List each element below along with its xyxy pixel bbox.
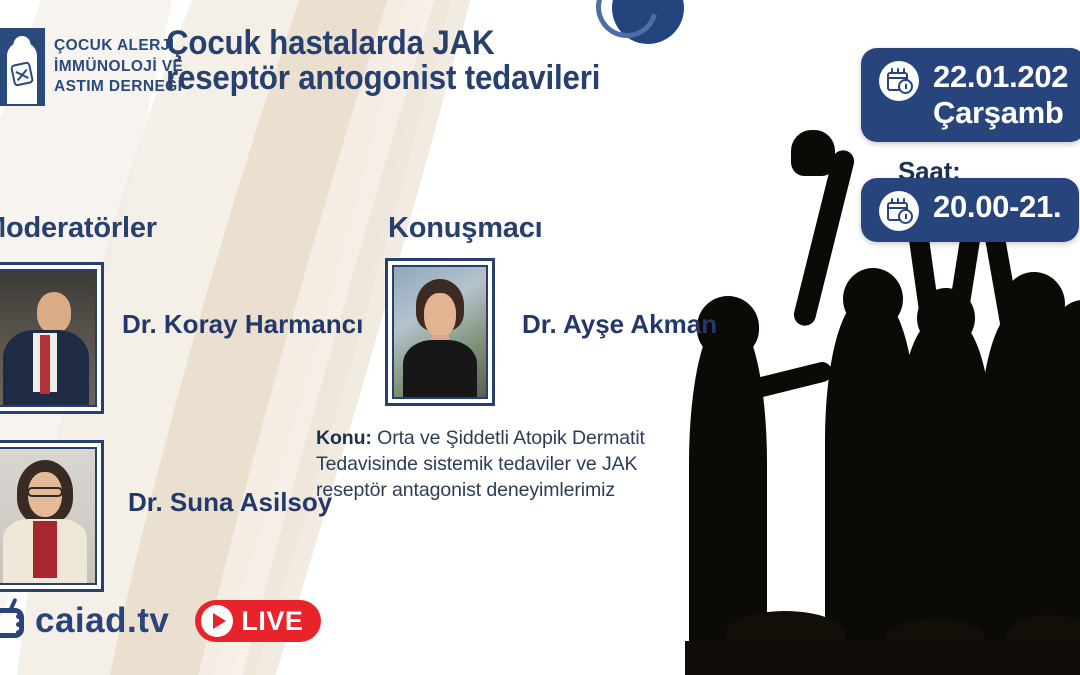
moderators-heading: Moderatörler	[0, 212, 157, 245]
avatar	[0, 271, 95, 405]
site-logo[interactable]: caiad.tv	[0, 601, 169, 641]
topic-label: Konu:	[316, 427, 372, 449]
date-value: 22.01.202	[933, 59, 1068, 95]
logo-line-2: İMMÜNOLOJİ VE	[54, 57, 183, 78]
moderator-photo-frame	[0, 440, 104, 592]
avatar	[394, 267, 486, 397]
moderator-name: Dr. Suna Asilsoy	[128, 488, 332, 517]
time-badge: 20.00-21.	[861, 178, 1079, 242]
weekday-value: Çarşamb	[933, 95, 1068, 131]
organization-name: ÇOCUK ALERJİ İMMÜNOLOJİ VE ASTIM DERNEĞİ	[54, 36, 183, 98]
calendar-clock-icon	[879, 191, 919, 231]
moderator-photo-frame	[0, 262, 104, 414]
footer-bar: caiad.tv LIVE	[0, 600, 321, 642]
play-icon	[201, 605, 233, 637]
silhouette-hand	[791, 130, 835, 176]
live-badge[interactable]: LIVE	[195, 600, 321, 642]
calendar-clock-icon	[879, 61, 919, 101]
topic-text: Konu: Orta ve Şiddetli Atopik Dermatit T…	[316, 425, 688, 503]
avatar	[0, 449, 95, 583]
tv-icon	[0, 601, 32, 641]
logo-line-1: ÇOCUK ALERJİ	[54, 36, 183, 57]
time-value: 20.00-21.	[933, 189, 1061, 225]
date-badge: 22.01.202 Çarşamb	[861, 48, 1080, 142]
live-label: LIVE	[241, 606, 303, 637]
silhouette-ground	[685, 641, 1080, 675]
silhouette-child	[689, 318, 767, 648]
child-figure-logo-icon	[0, 28, 45, 106]
moderator-name: Dr. Koray Harmancı	[122, 310, 363, 339]
page-title: Çocuk hastalarda JAK reseptör antogonist…	[166, 26, 626, 95]
webinar-poster: ÇOCUK ALERJİ İMMÜNOLOJİ VE ASTIM DERNEĞİ…	[0, 0, 1080, 675]
speaker-name: Dr. Ayşe Akman	[522, 310, 717, 339]
silhouette-child	[1041, 330, 1080, 650]
logo-line-3: ASTIM DERNEĞİ	[54, 77, 183, 98]
organization-logo: ÇOCUK ALERJİ İMMÜNOLOJİ VE ASTIM DERNEĞİ	[0, 28, 183, 106]
site-name: caiad.tv	[35, 601, 169, 641]
speaker-heading: Konuşmacı	[388, 212, 543, 245]
speaker-photo-frame	[385, 258, 495, 406]
